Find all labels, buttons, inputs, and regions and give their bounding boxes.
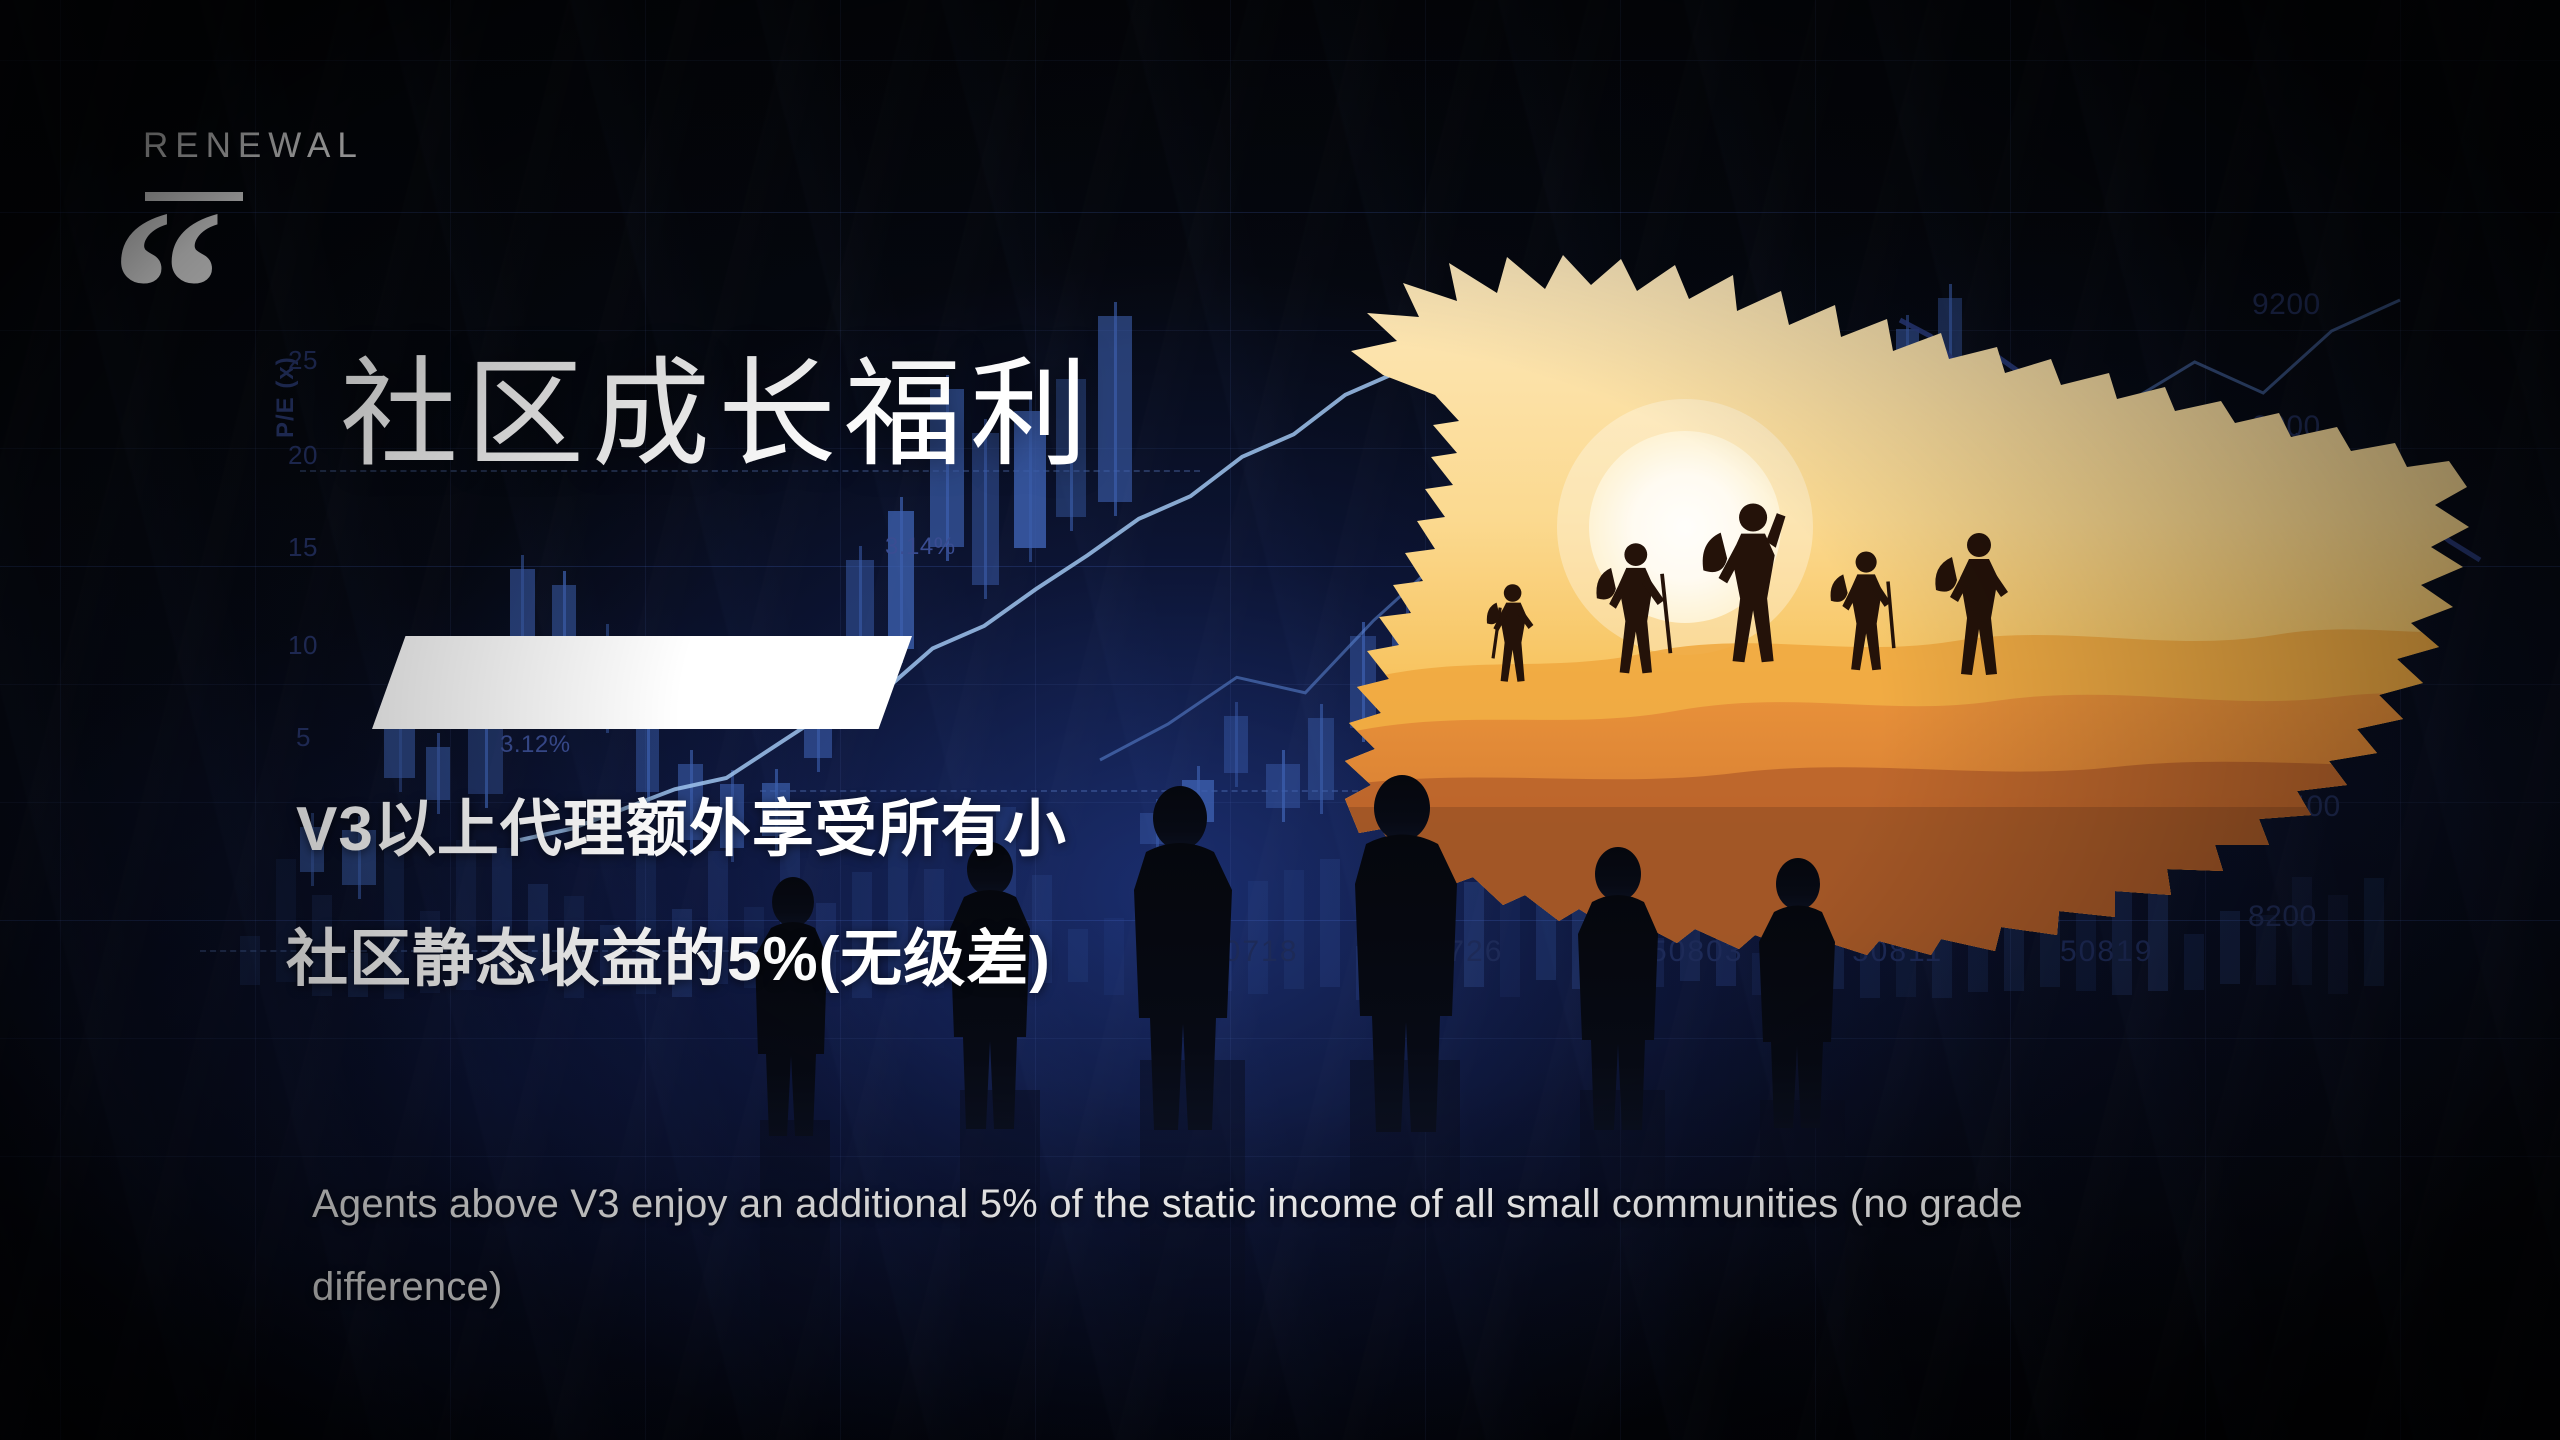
kicker-label: RENEWAL bbox=[143, 126, 364, 166]
slide-canvas: P/E (x) 25 20 15 10 5 3.14% 3.12% 9200 9… bbox=[0, 0, 2560, 1440]
silhouette-reflections bbox=[760, 1060, 1845, 1420]
body-text-cn-line1: V3以上代理额外享受所有小 bbox=[296, 778, 1067, 868]
page-title: 社区成长福利 bbox=[340, 318, 1096, 489]
double-quote-icon: “ bbox=[110, 175, 219, 405]
body-text-en-line2: difference) bbox=[312, 1265, 502, 1310]
body-text-en-line1: Agents above V3 enjoy an additional 5% o… bbox=[312, 1182, 2023, 1227]
body-text-cn-line2: 社区静态收益的5%(无级差) bbox=[286, 908, 1051, 998]
white-highlight-band bbox=[372, 636, 912, 729]
